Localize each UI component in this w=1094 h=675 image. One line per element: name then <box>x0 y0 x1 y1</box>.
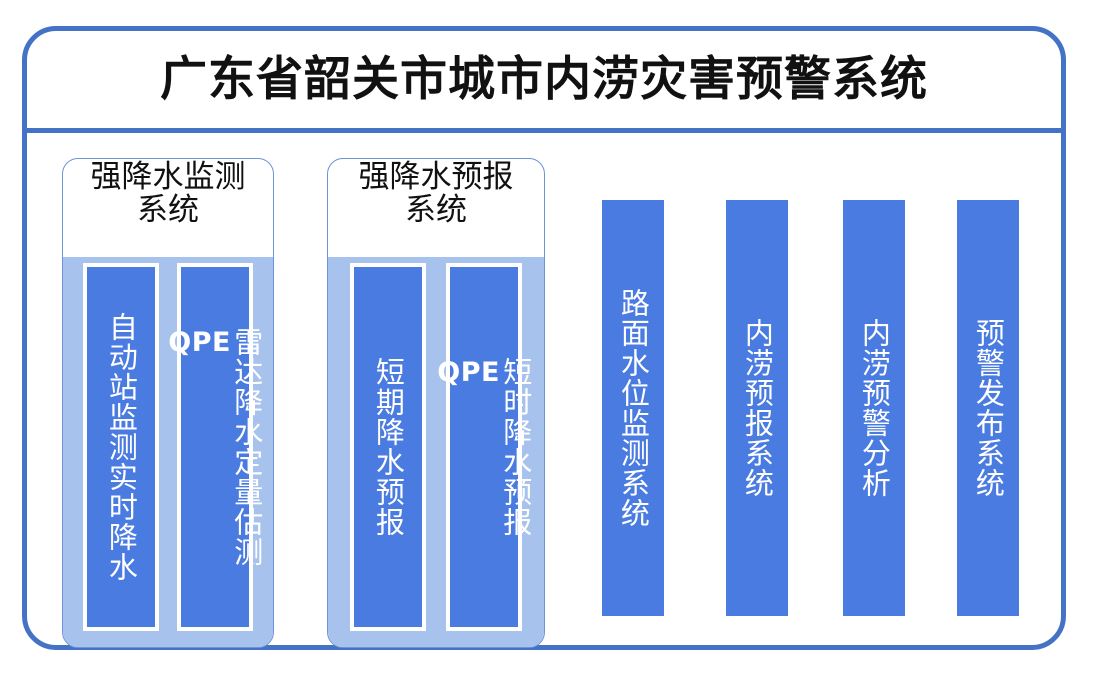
bar-slot: 自动站监测实时降水 <box>74 257 168 647</box>
bar-flood-forecast-text: 内涝预报系统 <box>740 318 774 498</box>
bar-nowcast-qpe-latin: QPE <box>437 359 500 388</box>
bar-radar-qpe[interactable]: 雷达降水定量估测 QPE <box>177 263 253 631</box>
bar-auto-station-text: 自动站监测实时降水 <box>104 312 138 582</box>
bar-nowcast-qpe-text: 短时降水预报 <box>499 357 533 537</box>
bar-slot: 雷达降水定量估测 QPE <box>168 257 262 647</box>
bar-radar-qpe-label: 雷达降水定量估测 QPE <box>168 327 261 567</box>
bar-flood-warning[interactable]: 内涝预警分析 <box>843 200 905 616</box>
group-header-line2: 系统 <box>405 194 467 227</box>
bar-nowcast-qpe[interactable]: 短时降水预报 QPE <box>446 263 522 631</box>
group-box-monitoring[interactable]: 强降水监测 系统 自动站监测实时降水 雷达降水定量估测 QPE <box>62 158 274 648</box>
bar-warning-release[interactable]: 预警发布系统 <box>957 200 1019 616</box>
bar-flood-warning-label: 内涝预警分析 <box>859 318 890 498</box>
bar-road-water-text: 路面水位监测系统 <box>616 288 650 528</box>
page-title: 广东省韶关市城市内涝灾害预警系统 <box>160 56 928 103</box>
bar-slot: 短时降水预报 QPE <box>436 257 532 647</box>
title-band: 广东省韶关市城市内涝灾害预警系统 <box>22 26 1066 132</box>
group-body-monitoring: 自动站监测实时降水 雷达降水定量估测 QPE <box>63 257 273 647</box>
bar-road-water[interactable]: 路面水位监测系统 <box>602 200 664 616</box>
bar-radar-qpe-latin: QPE <box>168 329 231 358</box>
bar-flood-forecast[interactable]: 内涝预报系统 <box>726 200 788 616</box>
bar-road-water-label: 路面水位监测系统 <box>618 288 649 528</box>
bar-short-term-text: 短期降水预报 <box>371 357 405 537</box>
group-header-monitoring: 强降水监测 系统 <box>63 159 273 259</box>
group-box-forecast[interactable]: 强降水预报 系统 短期降水预报 短时降水预报 QPE <box>327 158 545 648</box>
bar-radar-qpe-text: 雷达降水定量估测 <box>230 327 264 567</box>
bar-flood-forecast-label: 内涝预报系统 <box>742 318 773 498</box>
bar-warning-release-text: 预警发布系统 <box>971 318 1005 498</box>
bar-nowcast-qpe-label: 短时降水预报 QPE <box>437 357 530 537</box>
group-header-line2: 系统 <box>137 194 199 227</box>
group-header-line1: 强降水预报 <box>359 161 514 194</box>
bar-warning-release-label: 预警发布系统 <box>973 318 1004 498</box>
bar-slot: 短期降水预报 <box>340 257 436 647</box>
group-body-forecast: 短期降水预报 短时降水预报 QPE <box>328 257 544 647</box>
bar-flood-warning-text: 内涝预警分析 <box>857 318 891 498</box>
title-divider <box>27 128 1061 133</box>
bar-auto-station-label: 自动站监测实时降水 <box>106 312 137 582</box>
group-header-forecast: 强降水预报 系统 <box>328 159 544 259</box>
bar-short-term-label: 短期降水预报 <box>373 357 404 537</box>
bar-short-term[interactable]: 短期降水预报 <box>350 263 426 631</box>
group-header-line1: 强降水监测 <box>91 161 246 194</box>
bar-auto-station[interactable]: 自动站监测实时降水 <box>83 263 159 631</box>
